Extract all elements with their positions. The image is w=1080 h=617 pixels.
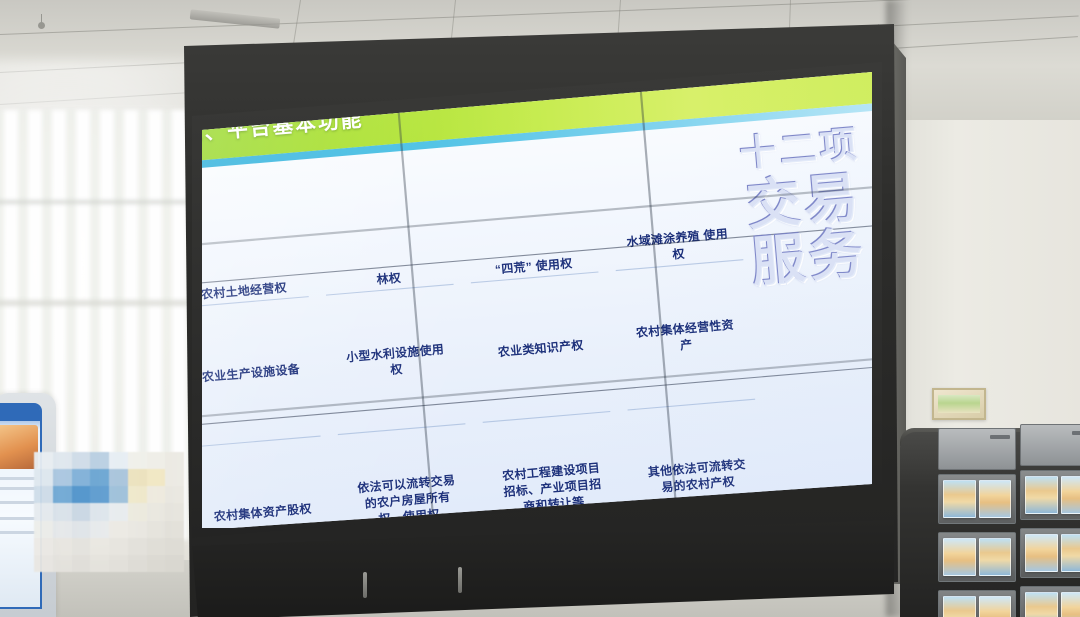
pixelated-censored-area: [34, 452, 184, 572]
leaflet[interactable]: [979, 480, 1012, 518]
brochure-rack-header: [938, 428, 1016, 470]
leaflet[interactable]: [1025, 592, 1058, 617]
brochure-rack-label: [990, 435, 1010, 439]
brochure-rack-label: [1072, 431, 1080, 435]
leaflet[interactable]: [1025, 476, 1058, 514]
sprinkler-icon: [38, 22, 45, 29]
brochure-rack[interactable]: [938, 428, 1016, 613]
leaflet[interactable]: [1025, 534, 1058, 572]
panel-seam-vertical: [634, 70, 684, 528]
cabinet-handle[interactable]: [458, 567, 462, 593]
kiosk-text-line: [0, 487, 37, 490]
kiosk-text-line: [0, 501, 37, 504]
screen-surface: 二、平台基本功能 山东农村产权交易中心滕州市服务中心 Shandong Rura…: [202, 70, 872, 528]
leaflet[interactable]: [979, 538, 1012, 576]
leaflet[interactable]: [1061, 534, 1080, 572]
brochure-shelf[interactable]: [1020, 586, 1080, 617]
video-wall-unit: 二、平台基本功能 山东农村产权交易中心滕州市服务中心 Shandong Rura…: [178, 22, 898, 617]
kiosk-text-line: [0, 531, 37, 534]
leaflet[interactable]: [943, 596, 976, 617]
brochure-shelf[interactable]: [938, 474, 1016, 524]
brochure-rack[interactable]: [1020, 424, 1080, 609]
leaflet[interactable]: [1061, 476, 1080, 514]
leaflet[interactable]: [1061, 592, 1080, 617]
wall-plaque-inner: [938, 395, 980, 413]
kiosk-image: [0, 425, 38, 469]
panel-seam-horizontal: [202, 353, 872, 421]
cabinet-handle[interactable]: [363, 572, 367, 598]
brochure-shelf[interactable]: [1020, 528, 1080, 578]
wall-plaque: [932, 388, 986, 420]
brochure-shelf[interactable]: [1020, 470, 1080, 520]
brochure-shelf[interactable]: [938, 532, 1016, 582]
kiosk-text-line: [0, 517, 37, 520]
brochure-rack-header: [1020, 424, 1080, 466]
panel-seam-horizontal: [202, 182, 872, 250]
video-wall-panel-seams: [202, 70, 872, 528]
kiosk-text-line: [0, 477, 37, 480]
leaflet[interactable]: [943, 480, 976, 518]
kiosk-banner: [0, 405, 40, 421]
leaflet[interactable]: [943, 538, 976, 576]
brochure-shelf[interactable]: [938, 590, 1016, 617]
video-wall-screen[interactable]: 二、平台基本功能 山东农村产权交易中心滕州市服务中心 Shandong Rura…: [202, 70, 872, 528]
room-scene: 二、平台基本功能 山东农村产权交易中心滕州市服务中心 Shandong Rura…: [0, 0, 1080, 617]
panel-seam-vertical: [391, 70, 441, 528]
leaflet[interactable]: [979, 596, 1012, 617]
